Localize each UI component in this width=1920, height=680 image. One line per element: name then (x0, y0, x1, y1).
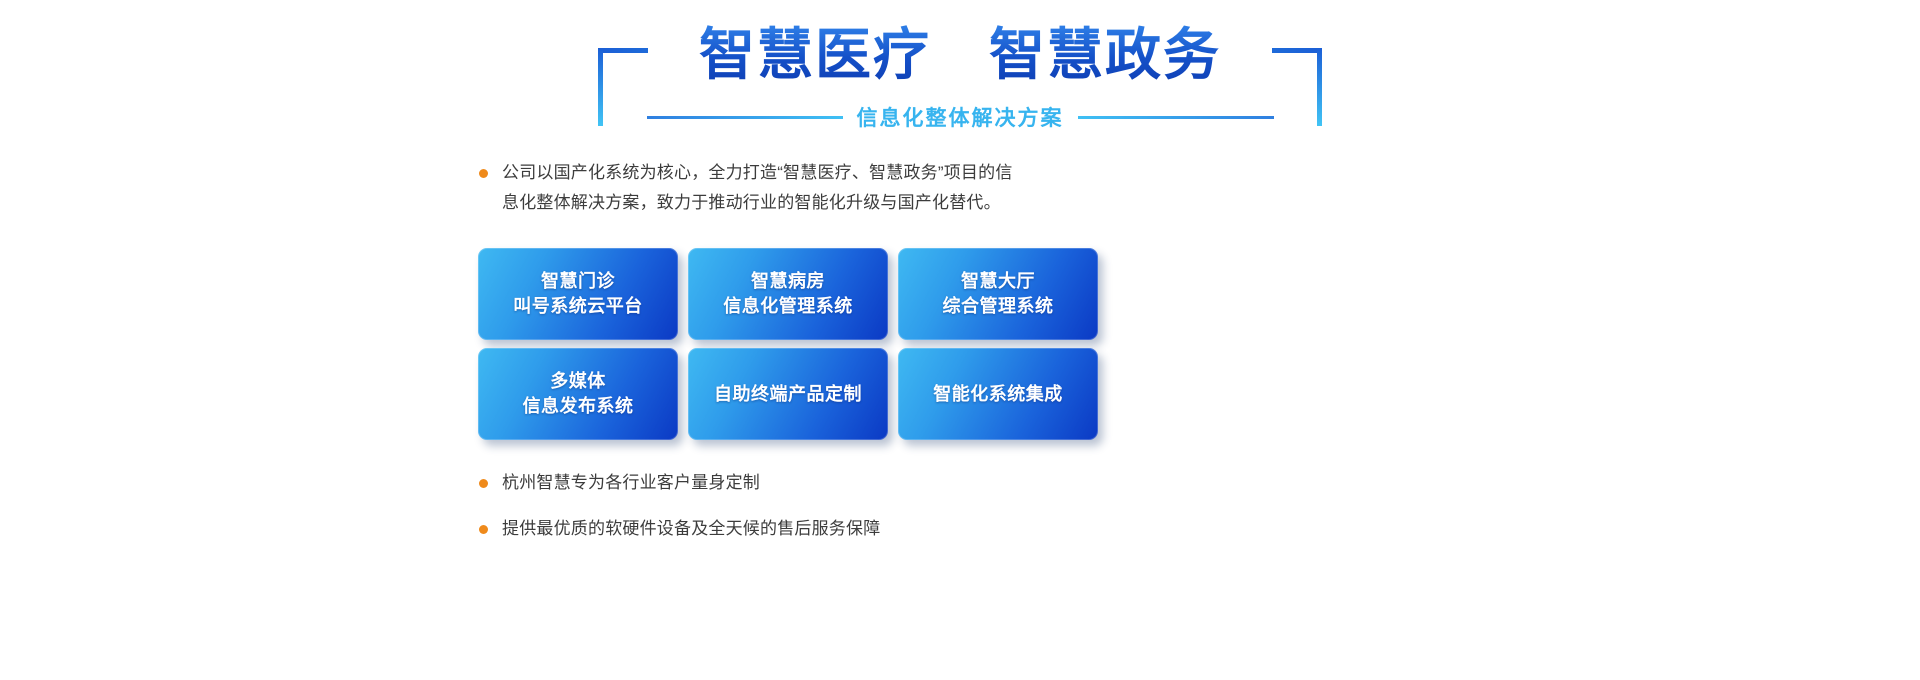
header: 智慧医疗 智慧政务 信息化整体解决方案 (0, 0, 1920, 150)
card-label: 智慧门诊叫号系统云平台 (513, 269, 643, 319)
card-smart-hall[interactable]: 智慧大厅综合管理系统 (898, 248, 1098, 340)
card-label: 智慧病房信息化管理系统 (723, 269, 853, 319)
bullet-dot-icon (479, 479, 488, 488)
bullet-text: 杭州智慧专为各行业客户量身定制 (502, 473, 760, 492)
page-title: 智慧医疗 智慧政务 (0, 24, 1920, 86)
intro-line-1: 公司以国产化系统为核心，全力打造“智慧医疗、智慧政务”项目的信 (502, 163, 1013, 182)
card-label: 自助终端产品定制 (714, 382, 862, 407)
card-smart-clinic[interactable]: 智慧门诊叫号系统云平台 (478, 248, 678, 340)
subtitle-rule-right (1078, 116, 1274, 119)
bullet-dot-icon (479, 169, 488, 178)
card-multimedia[interactable]: 多媒体信息发布系统 (478, 348, 678, 440)
card-system-integration[interactable]: 智能化系统集成 (898, 348, 1098, 440)
subtitle-row: 信息化整体解决方案 (0, 102, 1920, 132)
card-self-service-terminal[interactable]: 自助终端产品定制 (688, 348, 888, 440)
list-item: 杭州智慧专为各行业客户量身定制 (476, 470, 1116, 496)
feature-bullet-list: 杭州智慧专为各行业客户量身定制 提供最优质的软硬件设备及全天候的售后服务保障 (476, 470, 1116, 562)
card-smart-ward[interactable]: 智慧病房信息化管理系统 (688, 248, 888, 340)
bullet-dot-icon (479, 525, 488, 534)
solution-card-grid: 智慧门诊叫号系统云平台 智慧病房信息化管理系统 智慧大厅综合管理系统 多媒体信息… (478, 248, 1098, 440)
list-item: 提供最优质的软硬件设备及全天候的售后服务保障 (476, 516, 1116, 542)
intro-line-2: 息化整体解决方案，致力于推动行业的智能化升级与国产化替代。 (502, 188, 1096, 218)
intro-section: 公司以国产化系统为核心，全力打造“智慧医疗、智慧政务”项目的信 息化整体解决方案… (476, 158, 1096, 218)
page-subtitle: 信息化整体解决方案 (857, 102, 1064, 132)
intro-paragraph: 公司以国产化系统为核心，全力打造“智慧医疗、智慧政务”项目的信 息化整体解决方案… (476, 158, 1096, 218)
subtitle-rule-left (647, 116, 843, 119)
card-label: 智慧大厅综合管理系统 (943, 269, 1054, 319)
promo-banner: 智慧医疗 智慧政务 信息化整体解决方案 公司以国产化系统为核心，全力打造“智慧医… (0, 0, 1920, 680)
card-label: 多媒体信息发布系统 (523, 369, 634, 419)
card-label: 智能化系统集成 (933, 382, 1063, 407)
bullet-text: 提供最优质的软硬件设备及全天候的售后服务保障 (502, 519, 880, 538)
